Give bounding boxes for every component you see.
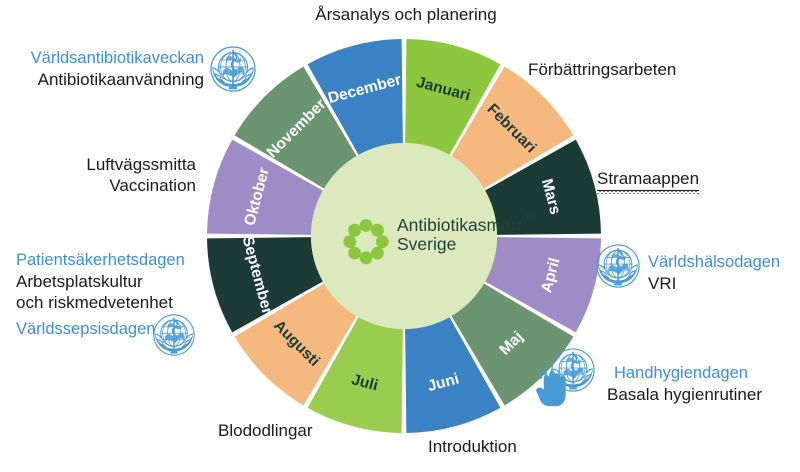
annotation-top-left: Världsantibiotikaveckan Antibiotikaanvän…: [12, 48, 204, 90]
annotation-top-right: Förbättringsarbeten: [528, 59, 788, 80]
who-logo-icon: [595, 243, 641, 289]
annotation-right-upper: Stramaappen: [597, 168, 797, 191]
annotation-left-lower-campaign1: Patientsäkerhetsdagen: [16, 250, 216, 271]
annotation-right-lower-theme: Basala hygienrutiner: [607, 384, 800, 405]
annotation-right-middle-campaign: Världshälsodagen: [648, 252, 800, 273]
annotation-bottom-left-theme: Blododlingar: [218, 420, 418, 441]
annotation-right-upper-theme: Stramaappen: [597, 168, 699, 191]
hand-hygiene-icon: [531, 366, 573, 408]
annotation-right-lower: Handhygiendagen Basala hygienrutiner: [614, 363, 800, 405]
annotation-right-middle: Världshälsodagen VRI: [648, 252, 800, 294]
annotation-left-lower-line2: och riskmedvetenhet: [16, 292, 216, 313]
logo-registered-mark: ®: [523, 207, 536, 227]
annotation-left-upper: Luftvägssmitta Vaccination: [10, 154, 196, 197]
logo-text-line2: Sverige: [397, 234, 456, 254]
annotation-left-upper-line2: Vaccination: [10, 175, 196, 196]
annotation-top-left-campaign: Världsantibiotikaveckan: [12, 48, 204, 69]
antibiotikasmart-flower-logo: [343, 219, 388, 264]
annotation-top-right-theme: Förbättringsarbeten: [528, 59, 788, 80]
logo-text-line1: Antibiotikasmart: [397, 215, 522, 235]
annotation-right-middle-theme: VRI: [648, 273, 800, 294]
annotation-left-lower-line1: Arbetsplatskultur: [16, 271, 216, 292]
annotation-top-theme: Årsanalys och planering: [281, 4, 531, 25]
annotation-top: Årsanalys och planering: [281, 4, 531, 25]
annotation-bottom-center: Introduktion: [428, 436, 628, 457]
who-logo-icon: [209, 45, 257, 93]
infographic-page: JanuariFebruariMarsAprilMajJuniJuliAugus…: [0, 0, 800, 472]
annotation-left-upper-line1: Luftvägssmitta: [10, 154, 196, 175]
annotation-top-left-theme: Antibiotikaanvändning: [12, 69, 204, 90]
annotation-bottom-left: Blododlingar: [218, 420, 418, 441]
who-logo-icon: [152, 313, 196, 357]
annotation-right-lower-campaign: Handhygiendagen: [614, 363, 800, 384]
annotation-bottom-center-theme: Introduktion: [428, 436, 628, 457]
